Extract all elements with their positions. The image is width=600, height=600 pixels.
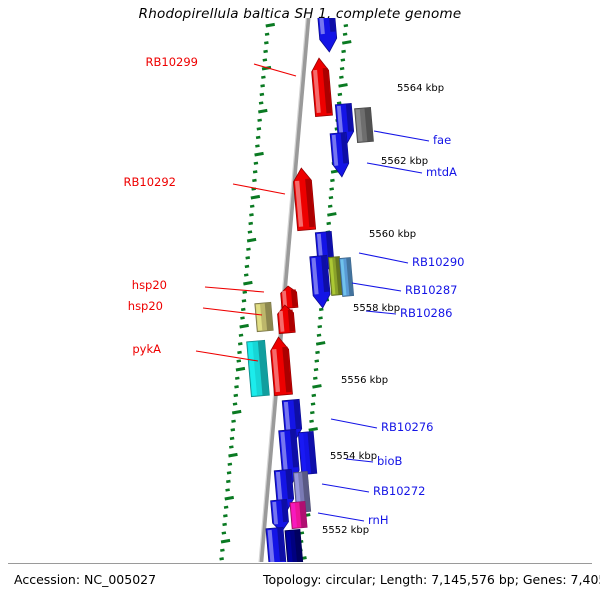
genome-map-canvas[interactable]: 5564 kbp5562 kbp5560 kbp5558 kbp5556 kbp…	[0, 0, 600, 600]
gene-feature-g-hsp20-box[interactable]	[255, 302, 273, 331]
gene-label-RB10290[interactable]: RB10290	[412, 255, 464, 269]
gene-label-mtdA[interactable]: mtdA	[426, 165, 457, 179]
leader-line-RB10292	[233, 184, 285, 194]
gene-feature-g-pykA-box[interactable]	[247, 340, 270, 396]
ruler-tick-label-0: 5564 kbp	[397, 83, 444, 94]
ruler-tick-label-6: 5552 kbp	[322, 525, 369, 536]
gene-label-RB10287[interactable]: RB10287	[405, 283, 457, 297]
gene-feature-g-rb10299[interactable]	[311, 57, 333, 116]
gene-label-hsp20-2[interactable]: hsp20	[128, 299, 163, 313]
ruler-tick-label-1: 5562 kbp	[381, 156, 428, 167]
genome-stats-label: Topology: circular; Length: 7,145,576 bp…	[262, 572, 600, 587]
gene-label-RB10292[interactable]: RB10292	[124, 175, 176, 189]
gene-label-RB10286[interactable]: RB10286	[400, 306, 452, 320]
accession-label: Accession: NC_005027	[14, 572, 156, 587]
gene-feature-g-rb10270[interactable]	[266, 527, 287, 576]
genome-map-viewer: Rhodopirellula baltica SH 1, complete ge…	[0, 0, 600, 600]
leader-line-RB10299	[254, 64, 296, 76]
gene-feature-g-fae-box[interactable]	[355, 107, 374, 142]
leader-line-rnH	[318, 513, 364, 521]
leader-line-RB10287	[352, 283, 401, 291]
gene-feature-g-rb10302[interactable]	[315, 0, 338, 53]
gene-feature-g-rnh[interactable]	[290, 501, 307, 528]
gene-label-RB10272[interactable]: RB10272	[373, 484, 425, 498]
leader-line-RB10272	[322, 484, 369, 492]
gene-label-hsp20-1[interactable]: hsp20	[132, 278, 167, 292]
gene-label-RB10276[interactable]: RB10276	[381, 420, 433, 434]
gene-label-pykA[interactable]: pykA	[132, 342, 161, 356]
leader-line-RB10276	[331, 419, 377, 428]
gene-label-bioB[interactable]: bioB	[377, 454, 403, 468]
ruler-tick-label-2: 5560 kbp	[369, 229, 416, 240]
leader-line-RB10290	[359, 253, 408, 263]
leader-line-hsp20-1	[205, 287, 264, 292]
leader-line-hsp20-2	[203, 308, 262, 315]
gene-label-rnH[interactable]: rnH	[368, 513, 388, 527]
ruler-tick-label-4: 5556 kbp	[341, 375, 388, 386]
gene-feature-g-bioB[interactable]	[298, 431, 317, 474]
gene-label-RB10299[interactable]: RB10299	[146, 55, 198, 69]
gene-label-fae[interactable]: fae	[433, 133, 451, 147]
gene-feature-g-hsp20-b[interactable]	[277, 304, 295, 333]
leader-line-fae	[374, 131, 429, 141]
footer-divider	[8, 563, 592, 564]
gene-feature-g-pykA[interactable]	[270, 336, 293, 395]
